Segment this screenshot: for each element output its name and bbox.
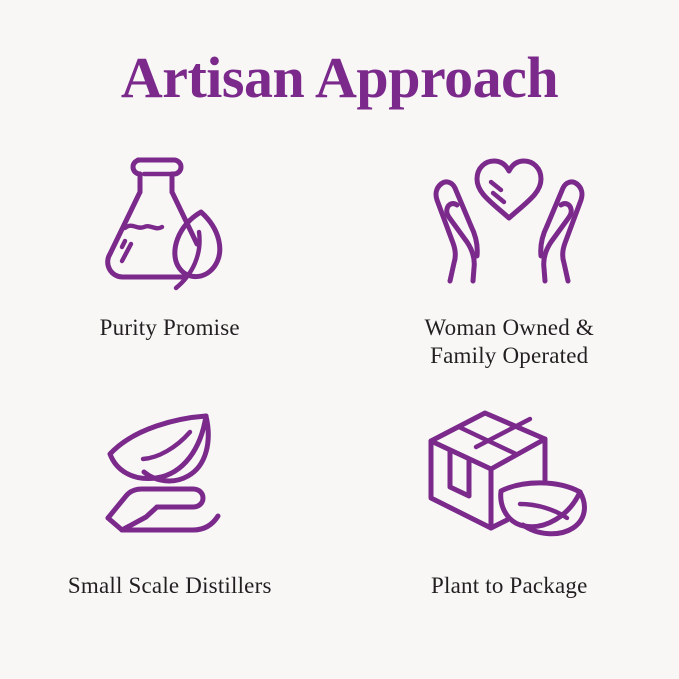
page-title: Artisan Approach [0, 46, 679, 110]
feature-label: Woman Owned & Family Operated [425, 314, 594, 370]
feature-label: Plant to Package [431, 572, 588, 600]
feature-grid: Purity Promise [0, 150, 679, 650]
flask-leaf-icon [100, 150, 240, 296]
feature-woman-owned: Woman Owned & Family Operated [340, 150, 679, 400]
box-leaf-icon [423, 400, 595, 546]
feature-small-scale-distillers: Small Scale Distillers [0, 400, 340, 650]
hands-heart-icon [423, 150, 595, 296]
feature-label: Small Scale Distillers [68, 572, 272, 600]
artisan-approach-panel: Artisan Approach [0, 0, 679, 679]
feature-purity-promise: Purity Promise [0, 150, 340, 400]
feature-label: Purity Promise [100, 314, 240, 342]
feature-plant-to-package: Plant to Package [340, 400, 679, 650]
leaf-in-hand-icon [100, 400, 240, 546]
